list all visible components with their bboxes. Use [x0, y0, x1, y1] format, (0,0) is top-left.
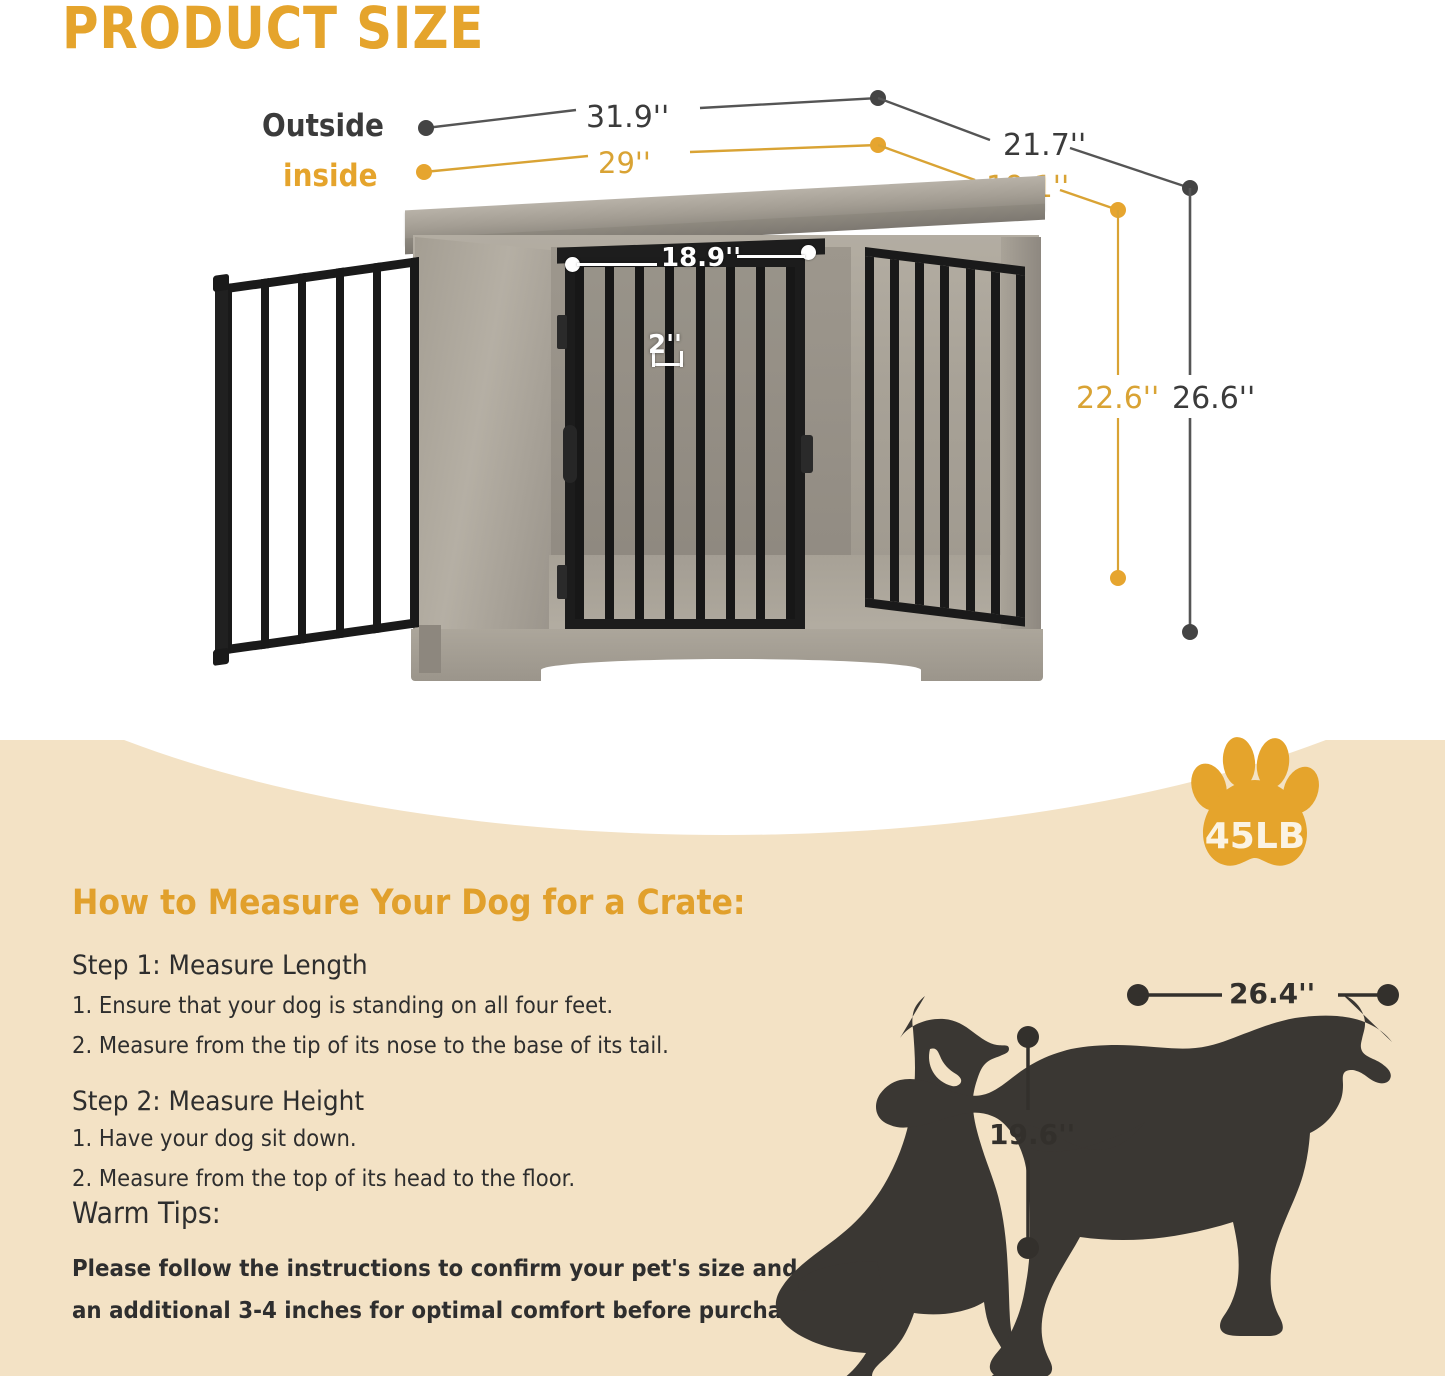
- dog-measurement-diagram: [0, 0, 1445, 1376]
- sitting-dog-silhouette: [776, 996, 1040, 1376]
- infographic-page: PRODUCT SIZE: [0, 0, 1445, 1376]
- dog-length-label: 26.4'': [1229, 977, 1315, 1010]
- dog-height-label: 19.6'': [989, 1118, 1075, 1151]
